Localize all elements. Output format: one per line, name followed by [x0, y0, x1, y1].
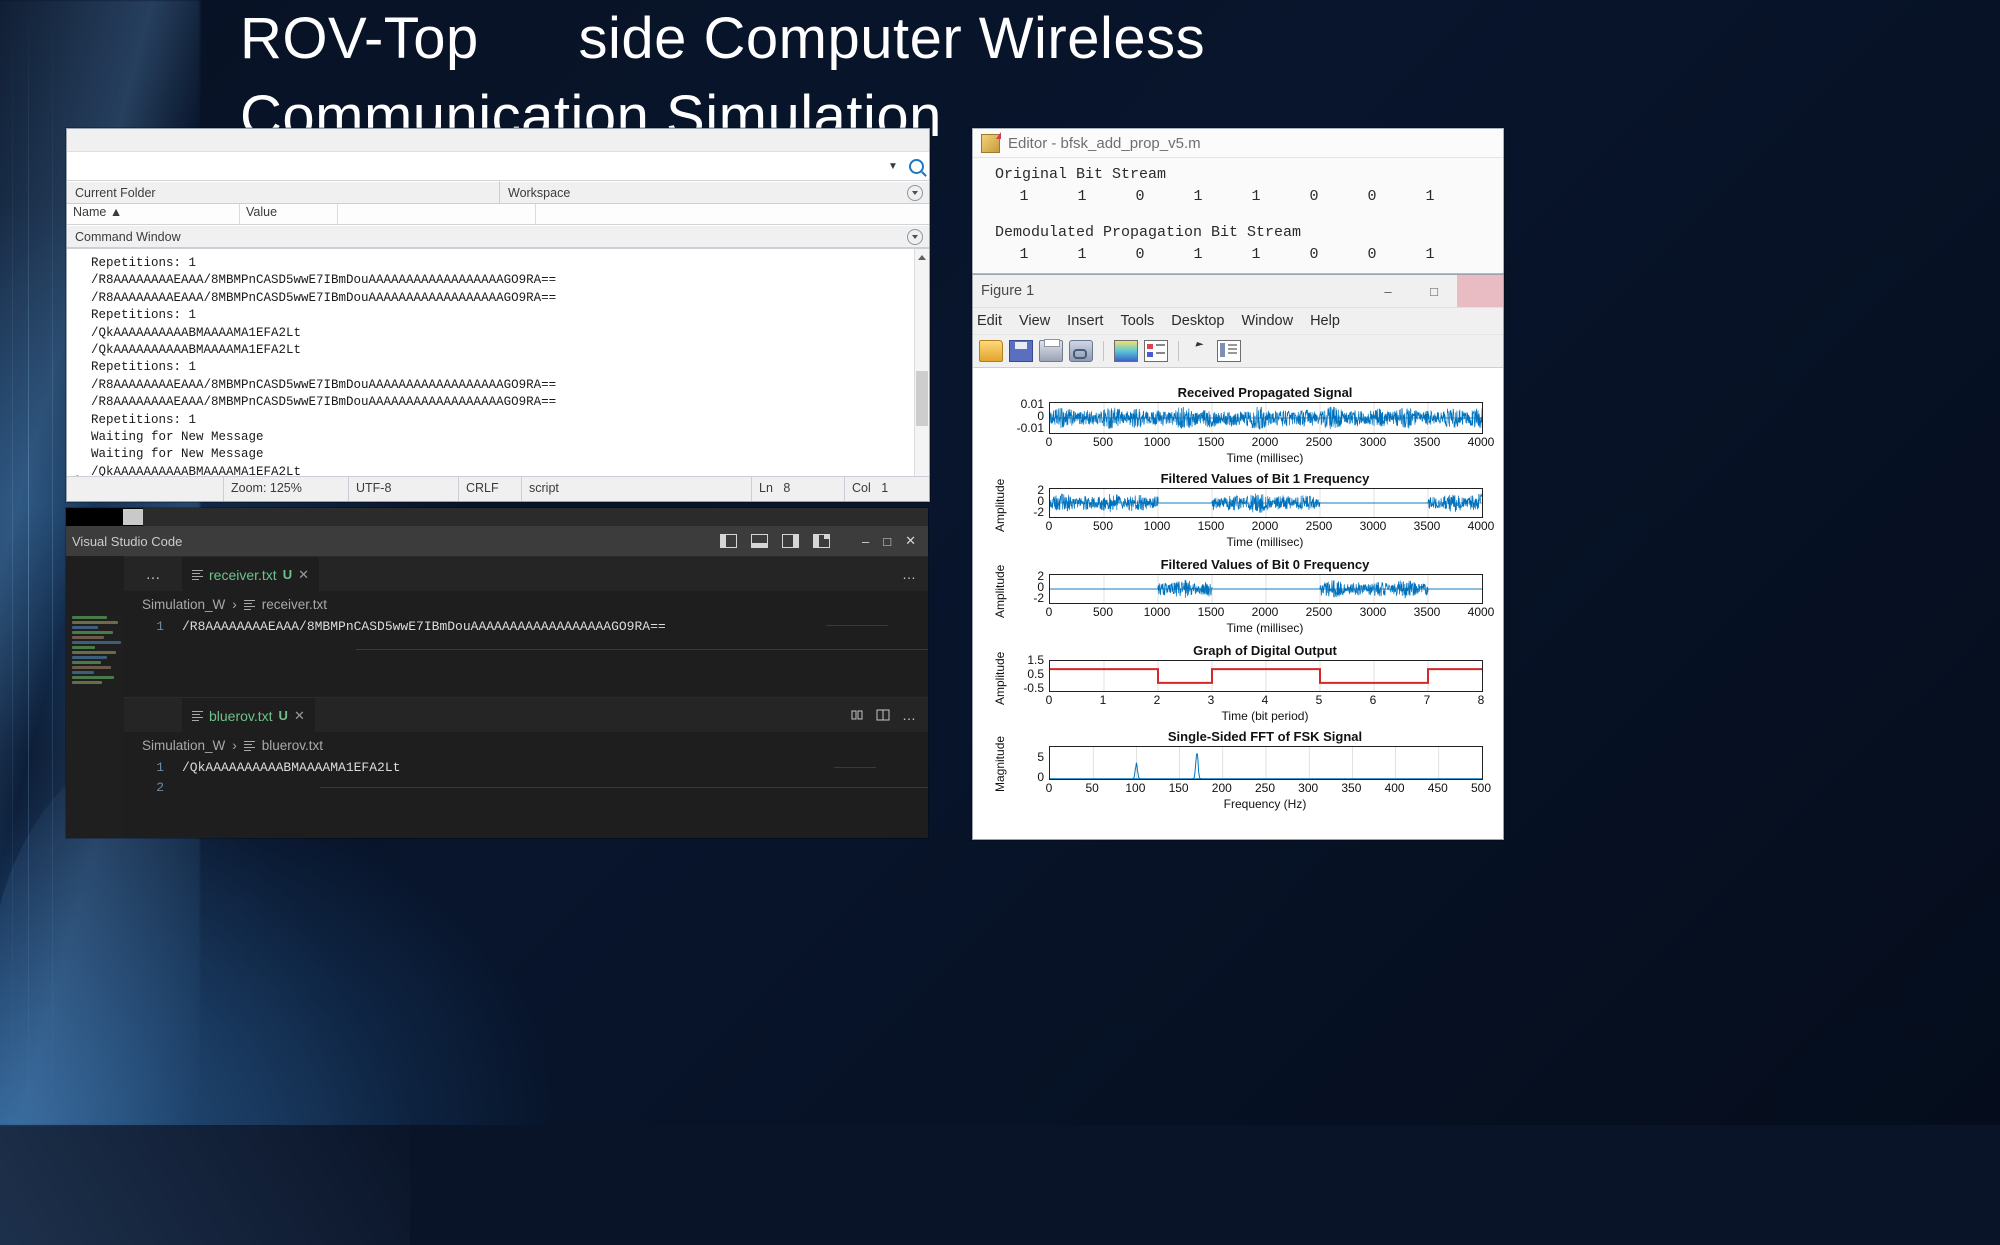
breadcrumb-folder[interactable]: Simulation_W — [142, 597, 225, 612]
bitstream-heading-demodulated: Demodulated Propagation Bit Stream — [995, 222, 1503, 244]
plot-area[interactable] — [1049, 660, 1483, 692]
editor-title: Editor - bfsk_add_prop_v5.m — [1008, 135, 1201, 152]
menu-window[interactable]: Window — [1242, 313, 1294, 329]
bit: 0 — [1343, 186, 1401, 208]
x-tick-label: 1500 — [1191, 519, 1231, 533]
tab-label: bluerov.txt — [209, 708, 273, 724]
figure-toolbar — [973, 335, 1503, 368]
editor-output: Original Bit Stream 1 1 0 1 1 0 0 1 Demo… — [973, 158, 1503, 266]
bit: 0 — [1111, 244, 1169, 266]
breadcrumb-separator: › — [232, 738, 237, 753]
toolbar-separator — [1103, 341, 1104, 361]
x-tick-label: 100 — [1115, 781, 1155, 795]
background-line — [52, 0, 53, 1125]
x-tick-label: 0 — [1029, 693, 1069, 707]
background-line — [28, 0, 29, 1125]
chevron-down-icon[interactable]: ▼ — [883, 161, 903, 172]
panel-right-icon[interactable] — [782, 534, 799, 548]
x-tick-label: 2000 — [1245, 435, 1285, 449]
tab-badge-unsaved: U — [279, 708, 288, 723]
command-window-output: Repetitions: 1 /R8AAAAAAAAEAAA/8MBMPnCAS… — [67, 249, 929, 481]
editor-more-actions-icon[interactable]: … — [902, 566, 916, 582]
x-tick-label: 250 — [1245, 781, 1285, 795]
bitstream-row-demodulated: 1 1 0 1 1 0 0 1 — [995, 244, 1503, 266]
link-plot-icon[interactable] — [1069, 340, 1093, 362]
colorbar-icon[interactable] — [1114, 340, 1138, 362]
subplot-1[interactable]: Received Propagated Signal-0.0100.010500… — [1049, 402, 1481, 432]
indent-ruler — [356, 649, 928, 650]
minimap-line — [72, 671, 94, 674]
y-tick-label: 2 — [1037, 483, 1044, 497]
x-tick-label: 4000 — [1461, 605, 1501, 619]
x-tick-label: 4000 — [1461, 519, 1501, 533]
x-tick-label: 1500 — [1191, 605, 1231, 619]
x-tick-label: 2500 — [1299, 435, 1339, 449]
x-tick-label: 3500 — [1407, 435, 1447, 449]
plot-area[interactable] — [1049, 574, 1483, 604]
plot-area[interactable] — [1049, 488, 1483, 518]
figure-canvas[interactable]: Received Propagated Signal-0.0100.010500… — [973, 368, 1503, 840]
x-tick-label: 0 — [1029, 519, 1069, 533]
status-file-type[interactable]: script — [521, 477, 751, 501]
bit: 0 — [1111, 186, 1169, 208]
file-text-icon — [244, 740, 255, 751]
plot-browser-icon[interactable] — [1217, 340, 1241, 362]
status-col-label: Col — [852, 481, 871, 495]
plot-area[interactable] — [1049, 402, 1483, 434]
y-tick-label: 2 — [1037, 569, 1044, 583]
status-line-number: Ln 8 — [751, 477, 844, 501]
background-line — [12, 0, 13, 1125]
bitstream-heading-original: Original Bit Stream — [995, 164, 1503, 186]
minimap-line — [72, 641, 121, 644]
y-tick-label: 5 — [1037, 750, 1044, 764]
x-tick-label: 3000 — [1353, 435, 1393, 449]
pointer-icon[interactable] — [1189, 341, 1211, 361]
bit: 1 — [1169, 186, 1227, 208]
taskbar-block — [66, 508, 121, 526]
legend-icon[interactable] — [1144, 340, 1168, 362]
bit: 1 — [1169, 244, 1227, 266]
line-number: 1 — [124, 617, 182, 637]
x-tick-label: 3 — [1191, 693, 1231, 707]
status-column-number: Col 1 — [844, 477, 929, 501]
bit: 0 — [1285, 186, 1343, 208]
code-line: 1 /QkAAAAAAAAAABMAAAAMA1EFA2Lt — [124, 758, 928, 778]
status-line-ending[interactable]: CRLF — [458, 477, 521, 501]
subplot-4[interactable]: Graph of Digital Output-0.50.51.50123456… — [1049, 660, 1481, 690]
menu-insert[interactable]: Insert — [1067, 313, 1103, 329]
panel-title-current-folder: Current Folder — [67, 186, 156, 200]
x-tick-label: 2000 — [1245, 519, 1285, 533]
status-spacer — [67, 477, 223, 501]
tab-close-icon[interactable]: ✕ — [294, 708, 305, 724]
x-tick-label: 2500 — [1299, 519, 1339, 533]
matlab-status-bar: Zoom: 125% UTF-8 CRLF script Ln 8 Col 1 — [67, 476, 929, 501]
panel-left-icon[interactable] — [720, 534, 737, 548]
status-col-value: 1 — [881, 481, 888, 495]
minimize-button[interactable]: – — [1365, 275, 1411, 307]
code-line: 2 — [124, 778, 928, 798]
bit: 1 — [1053, 186, 1111, 208]
minimap-line — [72, 651, 116, 654]
panel-bottom-icon[interactable] — [751, 534, 768, 548]
subplot-title: Filtered Values of Bit 1 Frequency — [1049, 471, 1481, 486]
maximize-button[interactable]: □ — [1411, 275, 1457, 307]
file-text-icon — [192, 710, 203, 721]
x-tick-label: 1 — [1083, 693, 1123, 707]
x-tick-label: 350 — [1331, 781, 1371, 795]
x-tick-label: 50 — [1072, 781, 1112, 795]
status-ln-label: Ln — [759, 481, 773, 495]
y-tick-label: 0.5 — [1027, 667, 1044, 681]
column-header-blank[interactable] — [338, 202, 536, 224]
subplot-title: Filtered Values of Bit 0 Frequency — [1049, 557, 1481, 572]
tab-receiver-txt[interactable]: receiver.txt U ✕ — [182, 557, 319, 592]
x-tick-label: 5 — [1299, 693, 1339, 707]
x-tick-label: 6 — [1353, 693, 1393, 707]
menu-view[interactable]: View — [1019, 313, 1050, 329]
scrollbar-thumb[interactable] — [916, 371, 928, 426]
figure-window[interactable]: Figure 1 – □ Edit View Insert Tools Desk… — [972, 274, 1504, 840]
x-tick-label: 3500 — [1407, 605, 1447, 619]
minimap-slider[interactable] — [834, 767, 876, 768]
subplot-2[interactable]: Filtered Values of Bit 1 Frequency-20205… — [1049, 488, 1481, 516]
x-tick-label: 8 — [1461, 693, 1501, 707]
bit: 1 — [995, 244, 1053, 266]
editor-pencil-icon — [981, 134, 1000, 153]
editor-more-actions-icon[interactable]: … — [902, 707, 916, 723]
plot-area[interactable] — [1049, 746, 1483, 780]
open-icon[interactable] — [979, 340, 1003, 362]
taskbar-active-item[interactable] — [123, 509, 143, 525]
x-tick-label: 0 — [1029, 781, 1069, 795]
subplot-title: Single-Sided FFT of FSK Signal — [1049, 729, 1481, 744]
bit: 1 — [1401, 244, 1459, 266]
search-icon[interactable] — [903, 154, 929, 178]
command-window[interactable]: Repetitions: 1 /R8AAAAAAAAEAAA/8MBMPnCAS… — [67, 248, 929, 492]
bit: 1 — [995, 186, 1053, 208]
bit: 1 — [1401, 186, 1459, 208]
x-tick-label: 450 — [1418, 781, 1458, 795]
x-axis-label: Time (millisec) — [1049, 535, 1481, 549]
matlab-editor-window[interactable]: Editor - bfsk_add_prop_v5.m Original Bit… — [972, 128, 1504, 280]
panel-menu-icon[interactable] — [907, 229, 923, 245]
code-area-receiver[interactable]: 1 /R8AAAAAAAAEAAA/8MBMPnCASD5wwE7IBmDouA… — [124, 617, 928, 697]
matlab-toolstrip — [67, 129, 929, 152]
vscode-title-bar: Visual Studio Code – □ ✕ — [66, 526, 928, 556]
workspace-column-headers: Name ▲ Value — [67, 202, 929, 225]
breadcrumb-folder[interactable]: Simulation_W — [142, 738, 225, 753]
editor-group-receiver: … receiver.txt U ✕ … Simulation_W — [124, 556, 928, 697]
x-tick-label: 500 — [1461, 781, 1501, 795]
file-text-icon — [244, 599, 255, 610]
more-actions-icon[interactable]: … — [124, 566, 182, 583]
y-tick-label: 0.01 — [1021, 397, 1044, 411]
matlab-desktop-window[interactable]: ▼ Current Folder Workspace Name ▲ Value … — [66, 128, 930, 502]
x-tick-label: 2000 — [1245, 605, 1285, 619]
editor-group-bluerov: bluerov.txt U ✕ … — [124, 697, 928, 838]
split-editor-icon[interactable] — [850, 708, 864, 722]
figure-title: Figure 1 — [973, 283, 1034, 299]
subplot-5[interactable]: Single-Sided FFT of FSK Signal0505010015… — [1049, 746, 1481, 778]
panel-command-window[interactable]: Command Window — [67, 225, 929, 248]
status-ln-value: 8 — [783, 481, 790, 495]
minimap-line — [72, 626, 98, 629]
breadcrumb-receiver[interactable]: Simulation_W › receiver.txt — [124, 591, 928, 617]
minimap-line — [72, 656, 107, 659]
breadcrumb-file[interactable]: bluerov.txt — [262, 738, 323, 753]
editor-title-bar: Editor - bfsk_add_prop_v5.m — [973, 129, 1503, 158]
vscode-window-title: Visual Studio Code — [66, 534, 182, 549]
tab-bluerov-txt[interactable]: bluerov.txt U ✕ — [182, 698, 315, 733]
minimap-line — [72, 616, 107, 619]
x-tick-label: 1500 — [1191, 435, 1231, 449]
panel-current-folder[interactable]: Current Folder — [67, 181, 500, 204]
minimap-line — [72, 681, 102, 684]
y-tick-label: 1.5 — [1027, 653, 1044, 667]
tab-close-icon[interactable]: ✕ — [298, 567, 309, 583]
x-tick-label: 500 — [1083, 519, 1123, 533]
close-button[interactable]: ✕ — [905, 533, 916, 549]
bit: 1 — [1053, 244, 1111, 266]
tab-bar: bluerov.txt U ✕ … — [124, 698, 928, 732]
menu-help[interactable]: Help — [1310, 313, 1340, 329]
indent-ruler — [320, 787, 928, 788]
line-number: 2 — [124, 778, 182, 798]
file-text-icon — [192, 569, 203, 580]
minimap[interactable] — [66, 614, 124, 838]
vscode-sidebar[interactable] — [66, 556, 124, 838]
minimap-line — [72, 646, 95, 649]
panel-menu-icon[interactable] — [907, 185, 923, 201]
x-tick-label: 500 — [1083, 435, 1123, 449]
x-tick-label: 1000 — [1137, 435, 1177, 449]
menu-tools[interactable]: Tools — [1120, 313, 1154, 329]
x-tick-label: 300 — [1288, 781, 1328, 795]
breadcrumb-bluerov[interactable]: Simulation_W › bluerov.txt — [124, 732, 928, 758]
panel-title-command-window: Command Window — [67, 230, 181, 244]
tab-bar: … receiver.txt U ✕ … — [124, 557, 928, 591]
bit: 0 — [1285, 244, 1343, 266]
vscode-editor-area: … receiver.txt U ✕ … Simulation_W — [124, 556, 928, 838]
minimap-line — [72, 636, 104, 639]
x-axis-label: Frequency (Hz) — [1049, 797, 1481, 811]
subplot-3[interactable]: Filtered Values of Bit 0 Frequency-20205… — [1049, 574, 1481, 602]
minimap-line — [72, 676, 114, 679]
vscode-window[interactable]: Visual Studio Code – □ ✕ — [66, 508, 928, 838]
y-axis-label: Amplitude — [993, 652, 1007, 705]
x-tick-label: 0 — [1029, 605, 1069, 619]
column-header-value[interactable]: Value — [240, 202, 338, 224]
close-button[interactable] — [1457, 275, 1503, 307]
x-tick-label: 0 — [1029, 435, 1069, 449]
panel-title-workspace: Workspace — [500, 186, 570, 200]
y-axis-label: Amplitude — [993, 565, 1007, 618]
x-tick-label: 3000 — [1353, 519, 1393, 533]
x-tick-label: 500 — [1083, 605, 1123, 619]
bit: 1 — [1227, 244, 1285, 266]
x-axis-label: Time (millisec) — [1049, 621, 1481, 635]
minimap-line — [72, 631, 113, 634]
x-tick-label: 200 — [1202, 781, 1242, 795]
minimap-line — [72, 661, 101, 664]
menu-edit[interactable]: Edit — [977, 313, 1002, 329]
x-tick-label: 4 — [1245, 693, 1285, 707]
breadcrumb-separator: › — [232, 597, 237, 612]
toolbar-separator — [1178, 341, 1179, 361]
figure-title-bar: Figure 1 – □ — [973, 275, 1503, 308]
line-text: /R8AAAAAAAAEAAA/8MBMPnCASD5wwE7IBmDouAAA… — [182, 617, 666, 637]
y-axis-label: Amplitude — [993, 479, 1007, 532]
subplot-title: Received Propagated Signal — [1049, 385, 1481, 400]
code-line: 1 /R8AAAAAAAAEAAA/8MBMPnCASD5wwE7IBmDouA… — [124, 617, 928, 637]
code-area-bluerov[interactable]: 1 /QkAAAAAAAAAABMAAAAMA1EFA2Lt 2 — [124, 758, 928, 838]
x-tick-label: 3500 — [1407, 519, 1447, 533]
figure-menu-bar: Edit View Insert Tools Desktop Window He… — [973, 308, 1503, 335]
minimap-line — [72, 666, 111, 669]
x-tick-label: 3000 — [1353, 605, 1393, 619]
bit: 0 — [1343, 244, 1401, 266]
taskbar-rest — [143, 508, 928, 526]
minimap-line — [72, 621, 118, 624]
x-tick-label: 150 — [1159, 781, 1199, 795]
minimap-slider[interactable] — [826, 625, 888, 626]
x-tick-label: 1000 — [1137, 519, 1177, 533]
x-tick-label: 2 — [1137, 693, 1177, 707]
layout-grid-icon[interactable] — [813, 534, 830, 548]
maximize-button[interactable]: □ — [883, 534, 891, 549]
print-icon[interactable] — [1039, 340, 1063, 362]
x-tick-label: 7 — [1407, 693, 1447, 707]
scroll-up-icon[interactable] — [918, 255, 926, 260]
breadcrumb-file[interactable]: receiver.txt — [262, 597, 327, 612]
bit: 1 — [1227, 186, 1285, 208]
line-text: /QkAAAAAAAAAABMAAAAMA1EFA2Lt — [182, 758, 400, 778]
command-window-scrollbar[interactable] — [914, 249, 929, 492]
status-zoom[interactable]: Zoom: 125% — [223, 477, 348, 501]
tab-badge-unsaved: U — [283, 567, 292, 582]
status-encoding[interactable]: UTF-8 — [348, 477, 458, 501]
x-axis-label: Time (millisec) — [1049, 451, 1481, 465]
x-tick-label: 4000 — [1461, 435, 1501, 449]
x-tick-label: 400 — [1375, 781, 1415, 795]
matlab-address-bar[interactable]: ▼ — [67, 152, 929, 181]
bitstream-row-original: 1 1 0 1 1 0 0 1 — [995, 186, 1503, 208]
tab-label: receiver.txt — [209, 567, 277, 583]
taskbar — [66, 508, 928, 526]
menu-desktop[interactable]: Desktop — [1171, 313, 1224, 329]
x-tick-label: 2500 — [1299, 605, 1339, 619]
compare-icon[interactable] — [876, 708, 890, 722]
subplot-title: Graph of Digital Output — [1049, 643, 1481, 658]
line-number: 1 — [124, 758, 182, 778]
address-input[interactable] — [71, 155, 881, 177]
column-header-name[interactable]: Name ▲ — [67, 202, 240, 224]
y-axis-label: Magnitude — [993, 736, 1007, 792]
x-axis-label: Time (bit period) — [1049, 709, 1481, 723]
save-icon[interactable] — [1009, 340, 1033, 362]
minimize-button[interactable]: – — [862, 534, 869, 549]
panel-workspace[interactable]: Workspace — [500, 181, 929, 204]
x-tick-label: 1000 — [1137, 605, 1177, 619]
